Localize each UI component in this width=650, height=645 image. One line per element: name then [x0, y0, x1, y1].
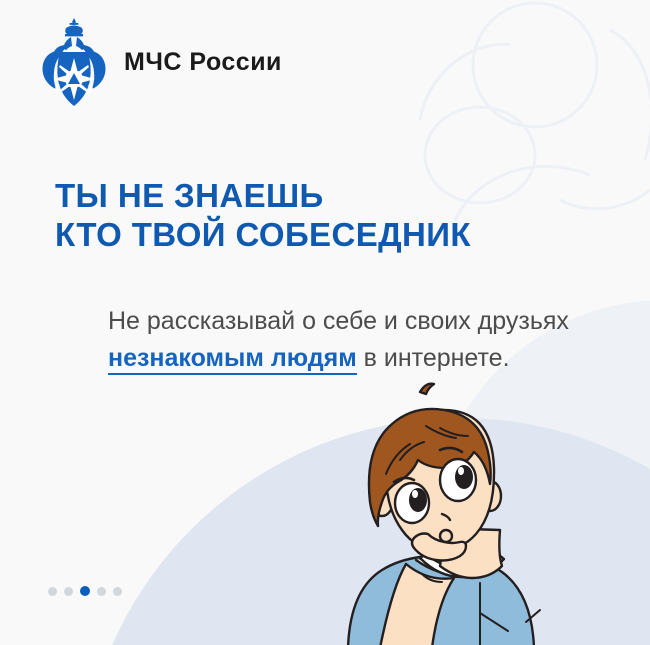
body-text: Не рассказывай о себе и своих друзьях не…: [108, 303, 578, 376]
page-title: ТЫ НЕ ЗНАЕШЬ КТО ТВОЙ СОБЕСЕДНИК: [55, 177, 471, 255]
pagination-dot-2[interactable]: [64, 587, 73, 596]
pagination-dot-3[interactable]: [80, 586, 90, 596]
pagination-dot-4[interactable]: [97, 587, 106, 596]
pagination-dot-1[interactable]: [48, 587, 57, 596]
thinking-boy-illustration: [330, 378, 650, 645]
pagination-dots[interactable]: [48, 586, 122, 596]
headline-line-1: ТЫ НЕ ЗНАЕШЬ: [55, 177, 324, 214]
brand-title: МЧС России: [124, 48, 282, 77]
brand-header: МЧС России: [38, 16, 282, 108]
body-text-part-2: в интернете.: [357, 344, 510, 372]
pagination-dot-5[interactable]: [113, 587, 122, 596]
headline-line-2: КТО ТВОЙ СОБЕСЕДНИК: [55, 216, 471, 255]
infographic-slide: МЧС России ТЫ НЕ ЗНАЕШЬ КТО ТВОЙ СОБЕСЕД…: [0, 0, 650, 645]
body-text-highlight: незнакомым людям: [108, 344, 357, 375]
emercom-emblem-icon: [38, 16, 110, 108]
body-text-part-1: Не рассказывай о себе и своих друзьях: [108, 307, 569, 335]
